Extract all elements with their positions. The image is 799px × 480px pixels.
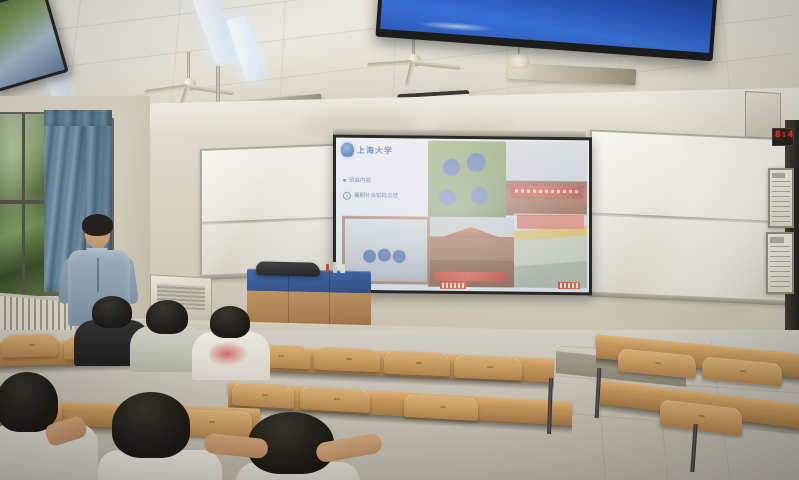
slide-bullet-1: 1暑期社会实践总结	[343, 191, 431, 200]
notice-upper-header	[772, 173, 784, 178]
desk-marker	[326, 264, 329, 273]
notice-board-upper	[768, 168, 794, 228]
slide-bullet-1-text: 暑期社会实践总结	[354, 193, 398, 199]
led-clock-value: 8:4	[775, 130, 794, 140]
presentation-slide: 上海大学 班会内容 1暑期社会实践总结	[336, 138, 589, 293]
student-far-right-hand	[316, 430, 386, 480]
seat-back	[300, 386, 370, 413]
whiteboard-left[interactable]	[200, 143, 354, 279]
student-mid-left-hair	[0, 372, 58, 432]
university-crest-icon	[341, 143, 354, 157]
photo-volunteers-outdoor	[428, 141, 506, 218]
student-grey-shirt-hair	[146, 300, 188, 334]
whiteboard-right[interactable]	[590, 129, 790, 304]
student-front-center-hair	[112, 392, 190, 458]
notice-lower-header	[770, 237, 783, 242]
photo-street-scene	[514, 214, 587, 289]
slide-bullet-list: 班会内容 1暑期社会实践总结	[343, 176, 431, 207]
seat-back	[314, 347, 380, 373]
slide-logo: 上海大学	[341, 142, 427, 159]
slide-red-tag-3	[558, 282, 580, 289]
gate-roof	[440, 227, 502, 239]
student-shirt-graphic	[210, 342, 252, 368]
presenter-hair	[82, 214, 113, 236]
student-black-shirt-hair	[92, 296, 132, 328]
whiteboard-right-sheen	[592, 132, 788, 303]
desk-cup	[340, 264, 345, 273]
student-white-print-shirt	[192, 306, 270, 370]
seat-back	[232, 382, 294, 408]
led-clock: 8:4	[772, 128, 794, 146]
student-mid-left	[0, 372, 98, 480]
window-curtain-valance	[44, 110, 112, 126]
student-mid-right	[204, 414, 290, 480]
student-far-right-arm	[315, 432, 383, 463]
projection-screen[interactable]: 上海大学 班会内容 1暑期社会实践总结	[333, 135, 592, 296]
slide-bullet-0-text: 班会内容	[349, 178, 371, 184]
whiteboard-left-sheen	[202, 145, 352, 277]
presenter-shirt-placket	[97, 258, 99, 292]
slide-red-tag-2	[440, 282, 466, 289]
seat-back	[404, 394, 478, 421]
seat-back	[454, 355, 522, 381]
street-sign-banner	[517, 215, 584, 229]
student-white-print-shirt-hair	[210, 306, 250, 338]
student-mid-right-arm	[203, 433, 269, 460]
photo-gate-banner	[435, 272, 507, 282]
notice-lower-lines	[770, 246, 789, 288]
photo-village-gate	[428, 217, 514, 288]
black-bag-on-podium	[256, 261, 320, 276]
bullet-dot-icon	[343, 179, 346, 182]
classroom-photo-scene: 上海大学 班会内容 1暑期社会实践总结	[0, 0, 799, 480]
desk-bottle	[333, 262, 337, 273]
notice-upper-lines	[772, 181, 790, 221]
slide-bullet-0: 班会内容	[343, 176, 431, 185]
bullet-number-icon: 1	[343, 191, 351, 199]
seat-back	[384, 351, 450, 377]
slide-logo-text: 上海大学	[357, 144, 393, 155]
seat-back	[2, 333, 58, 357]
photo-main-building-banner	[506, 141, 587, 216]
photo-building-banner	[511, 186, 582, 197]
notice-board-lower	[766, 232, 794, 294]
